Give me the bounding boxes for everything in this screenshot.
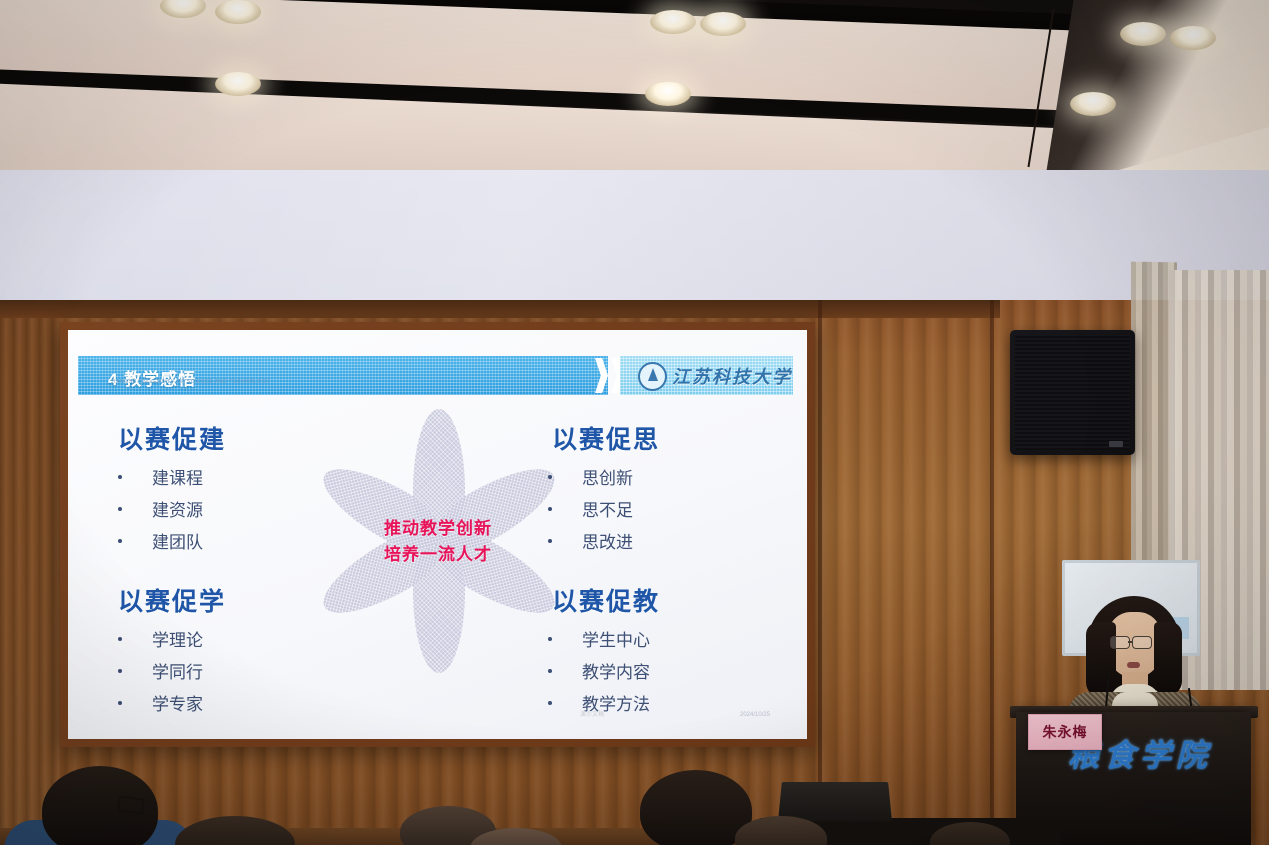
- lecture-hall-photo: 4 教学感悟 江苏科技大学 JIANGSU UNIVERSITY OF SCIE…: [0, 0, 1269, 845]
- quadrant-title: 以赛促建: [118, 420, 226, 456]
- nameplate: 朱永梅: [1028, 714, 1102, 750]
- list-item: 学同行: [118, 658, 226, 683]
- presentation-slide: 4 教学感悟 江苏科技大学 JIANGSU UNIVERSITY OF SCIE…: [68, 330, 807, 739]
- glasses-icon: [1110, 636, 1130, 649]
- list-item-label: 教学内容: [582, 658, 650, 683]
- list-item: 思不足: [548, 496, 660, 521]
- list-item: 学生中心: [548, 626, 660, 651]
- downlight-icon: [215, 72, 261, 96]
- projection-screen: 4 教学感悟 江苏科技大学 JIANGSU UNIVERSITY OF SCIE…: [68, 330, 807, 739]
- university-seal-icon: [638, 362, 667, 391]
- university-logo: 江苏科技大学: [638, 360, 788, 392]
- quadrant-list: 思创新 思不足 思改进: [548, 464, 660, 553]
- bullet-icon: [548, 669, 552, 673]
- wall-speaker: [1010, 330, 1135, 455]
- glasses-icon: [117, 795, 145, 814]
- list-item-label: 思不足: [582, 496, 633, 521]
- quadrant-title: 以赛促思: [552, 420, 660, 456]
- list-item-label: 建团队: [152, 528, 203, 553]
- list-item: 思改进: [548, 528, 660, 553]
- center-message: 推动教学创新 培养一流人才: [318, 516, 558, 569]
- list-item-label: 学同行: [152, 658, 203, 683]
- quadrant-bottom-right: 以赛促教 学生中心 教学内容 教学方法: [548, 582, 660, 722]
- list-item-label: 学专家: [152, 690, 203, 715]
- downlight-icon: [700, 12, 746, 36]
- list-item: 建课程: [118, 464, 226, 489]
- presenter-hair-right: [1154, 622, 1182, 696]
- slide-header-banner: 4 教学感悟 江苏科技大学 JIANGSU UNIVERSITY OF SCIE…: [78, 356, 793, 395]
- university-name-english: JIANGSU UNIVERSITY OF SCIENCE AND TECHNO…: [111, 379, 270, 385]
- quadrant-title: 以赛促教: [552, 582, 660, 618]
- quadrant-list: 学理论 学同行 学专家: [118, 626, 226, 715]
- list-item: 教学内容: [548, 658, 660, 683]
- downlight-icon: [645, 82, 691, 106]
- bullet-icon: [548, 701, 552, 705]
- bullet-icon: [548, 475, 552, 479]
- presenter-mouth: [1127, 662, 1140, 668]
- slide-footer-left: 演示文稿: [580, 711, 604, 720]
- bullet-icon: [548, 637, 552, 641]
- bullet-icon: [118, 637, 122, 641]
- speaker-grille-icon: [1015, 335, 1130, 450]
- quadrant-list: 建课程 建资源 建团队: [118, 464, 226, 553]
- downlight-icon: [1120, 22, 1166, 46]
- bullet-icon: [118, 669, 122, 673]
- center-message-line-1: 推动教学创新: [318, 516, 558, 542]
- list-item-label: 学理论: [152, 626, 203, 651]
- list-item: 学理论: [118, 626, 226, 651]
- list-item: 建资源: [118, 496, 226, 521]
- list-item-label: 建资源: [152, 496, 203, 521]
- quadrant-title: 以赛促学: [118, 582, 226, 618]
- bullet-icon: [118, 475, 122, 479]
- quadrant-top-right: 以赛促思 思创新 思不足 思改进: [548, 420, 660, 560]
- list-item: 学专家: [118, 690, 226, 715]
- nameplate-text: 朱永梅: [1043, 722, 1088, 742]
- bullet-icon: [118, 701, 122, 705]
- downlight-icon: [1170, 26, 1216, 50]
- list-item: 思创新: [548, 464, 660, 489]
- downlight-icon: [215, 0, 261, 24]
- laptop: [778, 782, 892, 822]
- bullet-icon: [118, 539, 122, 543]
- list-item: 建团队: [118, 528, 226, 553]
- slide-title: 4 教学感悟: [108, 365, 196, 390]
- downlight-icon: [650, 10, 696, 34]
- bullet-icon: [118, 507, 122, 511]
- quadrant-bottom-left: 以赛促学 学理论 学同行 学专家: [118, 582, 226, 722]
- center-message-line-2: 培养一流人才: [318, 542, 558, 568]
- downlight-icon: [1070, 92, 1116, 116]
- list-item-label: 思改进: [582, 528, 633, 553]
- wood-wall-seam: [818, 300, 822, 845]
- list-item-label: 建课程: [152, 464, 203, 489]
- list-item-label: 学生中心: [582, 626, 650, 651]
- list-item-label: 思创新: [582, 464, 633, 489]
- wood-left-panel: [0, 318, 60, 838]
- quadrant-list: 学生中心 教学内容 教学方法: [548, 626, 660, 715]
- wood-wall-top-trim: [0, 300, 1000, 318]
- glasses-icon: [1132, 636, 1152, 649]
- slide-footer-right: 2024/10/25: [740, 711, 770, 720]
- speaker-brand-logo: [1109, 441, 1123, 447]
- university-name: 江苏科技大学: [672, 363, 792, 389]
- glasses-bridge: [1128, 641, 1132, 643]
- projection-screen-frame: 4 教学感悟 江苏科技大学 JIANGSU UNIVERSITY OF SCIE…: [60, 322, 815, 747]
- wood-wall-seam: [990, 300, 994, 845]
- quadrant-top-left: 以赛促建 建课程 建资源 建团队: [118, 420, 226, 560]
- presenter-hair-left: [1086, 622, 1116, 698]
- bullet-icon: [548, 507, 552, 511]
